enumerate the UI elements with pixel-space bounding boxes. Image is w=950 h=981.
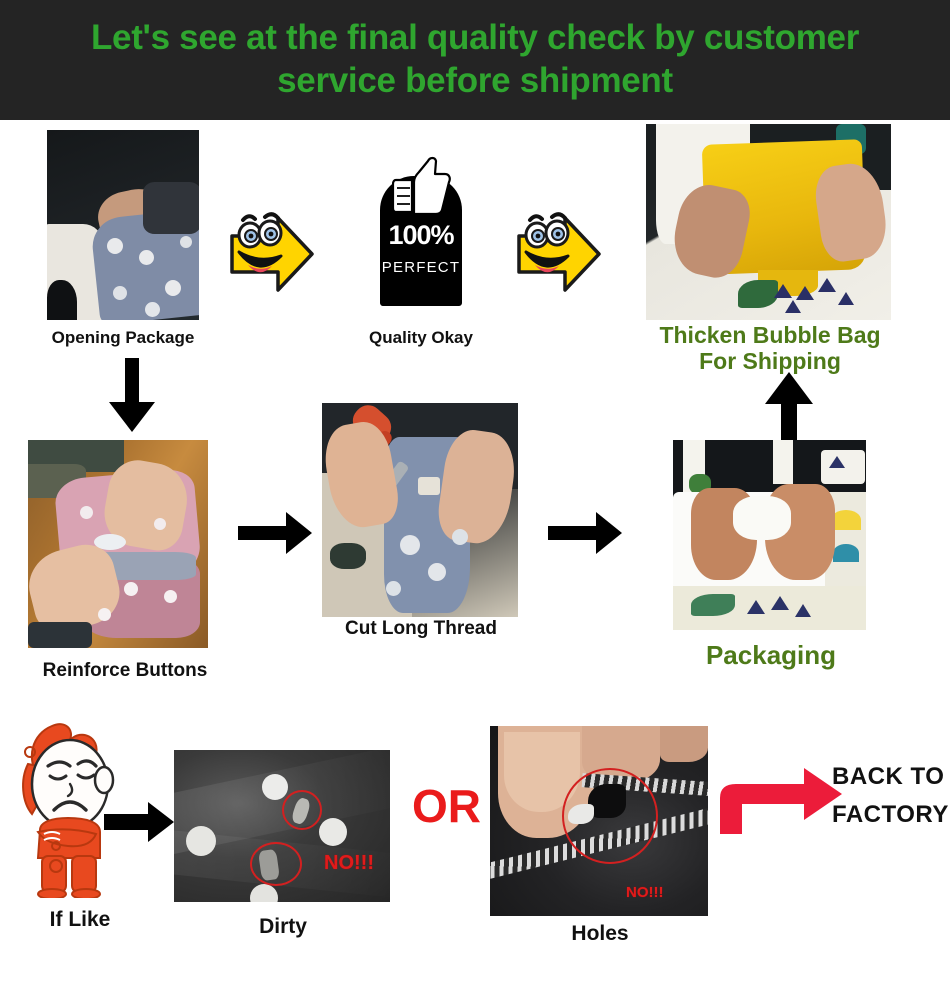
arrow-red-bent-icon	[718, 762, 848, 847]
thumbs-up-icon	[392, 154, 452, 221]
caption-reinforce-buttons: Reinforce Buttons	[0, 660, 250, 682]
smiley-arrow-icon-2	[513, 212, 605, 301]
badge-word: PERFECT	[382, 259, 460, 276]
caption-quality-okay: Quality Okay	[330, 328, 512, 348]
caption-cut-long-thread: Cut Long Thread	[300, 618, 542, 640]
photo-cut-long-thread	[322, 403, 518, 617]
photo-opening-package	[47, 130, 199, 320]
caption-dirty: Dirty	[190, 915, 376, 939]
or-label: OR	[412, 779, 481, 833]
arrow-down-icon	[105, 358, 159, 439]
photo-reinforce-buttons	[28, 440, 208, 648]
smiley-arrow-icon-1	[226, 212, 318, 301]
badge-percent: 100%	[388, 220, 453, 251]
photo-holes: NO!!!	[490, 726, 708, 916]
no-label-holes: NO!!!	[626, 884, 664, 901]
no-label-dirty: NO!!!	[324, 852, 374, 875]
arrow-right-icon-1	[238, 508, 314, 563]
arrow-right-icon-2	[548, 508, 624, 563]
photo-packaging	[673, 440, 866, 630]
caption-opening-package: Opening Package	[8, 328, 238, 348]
photo-thicken-bubble-bag	[646, 124, 891, 320]
badge-quality-100-percent: 100% PERFECT	[380, 176, 462, 306]
arrow-right-icon-3	[104, 800, 176, 849]
header-banner: Let's see at the final quality check by …	[0, 0, 950, 120]
caption-holes: Holes	[510, 922, 690, 946]
defect-marker-2	[250, 842, 302, 886]
page-title: Let's see at the final quality check by …	[35, 17, 915, 102]
back-to-factory-label: BACK TO FACTORY	[832, 758, 950, 835]
defect-marker-holes	[562, 768, 658, 864]
caption-packaging: Packaging	[655, 640, 887, 671]
defect-marker-1	[282, 790, 322, 830]
caption-if-like: If Like	[10, 908, 150, 932]
caption-thicken-bubble-bag: Thicken Bubble Bag For Shipping	[620, 322, 920, 375]
photo-dirty: NO!!!	[174, 750, 390, 902]
